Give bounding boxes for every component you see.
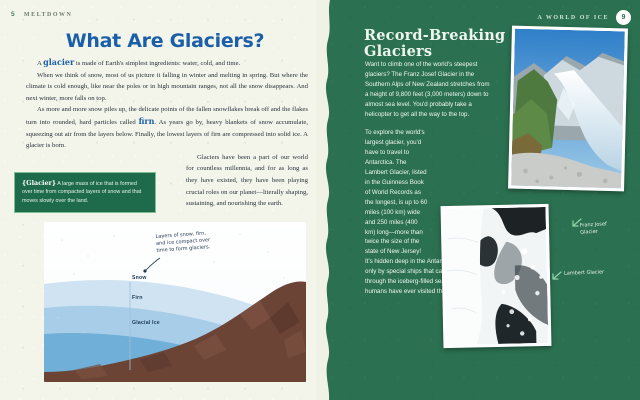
- page-number-badge: 9: [616, 10, 631, 25]
- caption-arrow-lambert-icon: [550, 270, 562, 282]
- diagram-label-glacial-ice: Glacial Ice: [132, 320, 160, 326]
- left-page: 5 MELTDOWN What Are Glaciers? A glacier …: [0, 0, 330, 400]
- caption-franz-josef-glacier: Franz Josef Glacier: [580, 221, 608, 236]
- right-page: A WORLD OF ICE 9 Record-Breaking Glacier…: [322, 0, 640, 400]
- keyword-firn: firn: [139, 116, 155, 126]
- caption-lambert-glacier: Lambert Glacier: [564, 269, 604, 277]
- paragraph-1-lead: A: [37, 60, 41, 67]
- paragraph-1: A glacier is made of Earth's simplest in…: [26, 57, 308, 70]
- photo-lambert-glacier: [441, 204, 552, 348]
- paragraph-1-rest: is made of Earth's simplest ingredients:…: [76, 60, 240, 67]
- left-page-header: 5 MELTDOWN: [11, 11, 72, 18]
- photo-franz-josef-glacier: [508, 26, 628, 192]
- photo-franz-josef-art: [511, 29, 625, 189]
- definition-term: {Glacier}: [22, 179, 56, 187]
- photo-lambert-inner: [444, 207, 549, 345]
- keyword-glacier: glacier: [43, 57, 74, 67]
- diagram-label-snow: Snow: [132, 275, 147, 281]
- photo-franz-josef-inner: [511, 29, 625, 189]
- page-number-left: 5: [11, 11, 15, 18]
- sidebar-paragraph-1: Want to climb one of the world's steepes…: [365, 60, 493, 119]
- paragraph-4-text: Glaciers have been a part of our world f…: [186, 154, 308, 207]
- running-head-left: MELTDOWN: [24, 12, 72, 18]
- paragraph-2: When we think of snow, most of us pictur…: [26, 70, 308, 105]
- running-head-right: A WORLD OF ICE: [537, 15, 609, 21]
- page-title: What Are Glaciers?: [0, 30, 330, 52]
- sidebar-title: Record-Breaking Glaciers: [364, 28, 524, 60]
- book-spread: 5 MELTDOWN What Are Glaciers? A glacier …: [0, 0, 640, 400]
- diagram-label-firn: Firn: [132, 295, 143, 301]
- right-page-header: A WORLD OF ICE 9: [537, 10, 631, 25]
- torn-paper-edge: [316, 0, 338, 400]
- glacier-cross-section-diagram: Layers of snow, firn, and ice compact ov…: [44, 222, 306, 382]
- definition-box: {Glacier} A large mass of ice that is fo…: [14, 172, 156, 213]
- photo-lambert-art: [444, 207, 549, 345]
- paragraph-3: As more and more snow piles up, the deli…: [26, 104, 308, 151]
- diagram-annotation: Layers of snow, firn, and ice compact ov…: [155, 230, 211, 255]
